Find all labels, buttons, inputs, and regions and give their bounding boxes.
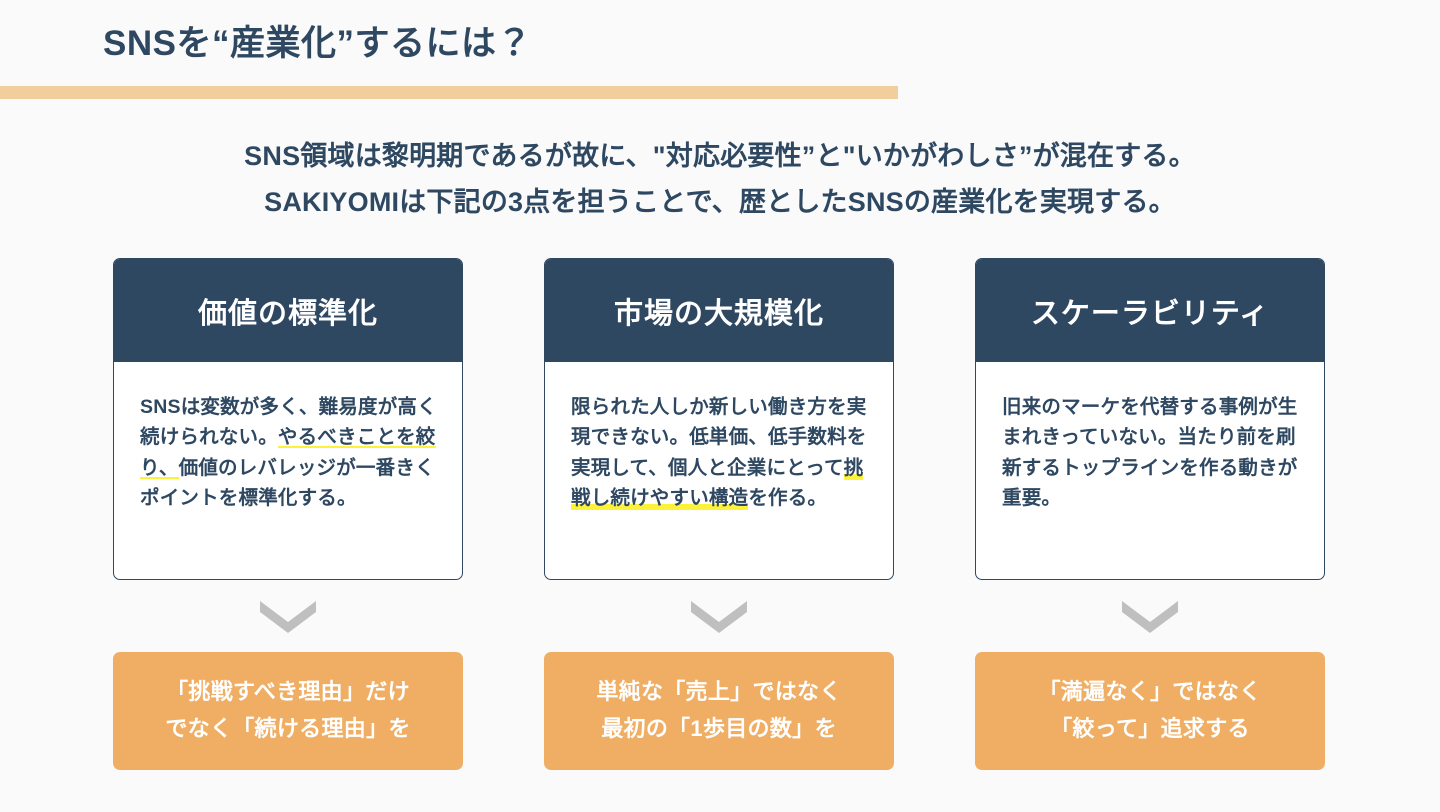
title-block: SNSを“産業化”するには？ <box>0 22 1440 66</box>
card-body: SNSは変数が多く、難易度が高く続けられない。やるべきことを絞り、価値のレバレッ… <box>114 362 462 579</box>
page-title: SNSを“産業化”するには？ <box>0 22 1440 66</box>
callout-line-2: 「絞って」追求する <box>1050 711 1250 748</box>
subtitle: SNS領域は黎明期であるが故に、"対応必要性”と"いかがわしさ”が混在する。 S… <box>0 133 1440 226</box>
column-scalability: スケーラビリティ 旧来のマーケを代替する事例が生まれきっていない。当たり前を刷新… <box>975 258 1325 770</box>
card-header: 市場の大規模化 <box>545 259 893 362</box>
callout-box: 「挑戦すべき理由」だけ でなく「続ける理由」を <box>113 652 463 770</box>
card-header: スケーラビリティ <box>976 259 1324 362</box>
column-value-standardization: 価値の標準化 SNSは変数が多く、難易度が高く続けられない。やるべきことを絞り、… <box>113 258 463 770</box>
subtitle-line-1: SNS領域は黎明期であるが故に、"対応必要性”と"いかがわしさ”が混在する。 <box>0 133 1440 179</box>
card: 価値の標準化 SNSは変数が多く、難易度が高く続けられない。やるべきことを絞り、… <box>113 258 463 580</box>
chevron-down-icon <box>1122 601 1178 633</box>
slide-root: SNSを“産業化”するには？ SNS領域は黎明期であるが故に、"対応必要性”と"… <box>0 0 1440 812</box>
callout-box: 「満遍なく」ではなく 「絞って」追求する <box>975 652 1325 770</box>
chevron-down-icon <box>691 601 747 633</box>
card-body-part1: 旧来のマーケを代替する事例が生まれきっていない。当たり前を刷新するトップラインを… <box>1002 396 1298 509</box>
callout-line-1: 「挑戦すべき理由」だけ <box>166 674 410 711</box>
title-accent-bar <box>0 86 898 99</box>
card-body: 旧来のマーケを代替する事例が生まれきっていない。当たり前を刷新するトップラインを… <box>976 362 1324 579</box>
card-body-text: SNSは変数が多く、難易度が高く続けられない。やるべきことを絞り、価値のレバレッ… <box>140 392 440 514</box>
card: 市場の大規模化 限られた人しか新しい働き方を実現できない。低単価、低手数料を実現… <box>544 258 894 580</box>
callout-line-2: でなく「続ける理由」を <box>165 711 410 748</box>
subtitle-line-2: SAKIYOMIは下記の3点を担うことで、歴としたSNSの産業化を実現する。 <box>0 179 1440 225</box>
callout-line-1: 「満遍なく」ではなく <box>1038 674 1261 711</box>
card-body-part1: 限られた人しか新しい働き方を実現できない。低単価、低手数料を実現して、個人と企業… <box>571 396 867 479</box>
column-market-scaling: 市場の大規模化 限られた人しか新しい働き方を実現できない。低単価、低手数料を実現… <box>544 258 894 770</box>
columns-container: 価値の標準化 SNSは変数が多く、難易度が高く続けられない。やるべきことを絞り、… <box>113 258 1325 770</box>
card: スケーラビリティ 旧来のマーケを代替する事例が生まれきっていない。当たり前を刷新… <box>975 258 1325 580</box>
callout-line-2: 最初の「1歩目の数」を <box>601 711 837 748</box>
card-header: 価値の標準化 <box>114 259 462 362</box>
callout-line-1: 単純な「売上」ではなく <box>596 674 841 711</box>
card-body: 限られた人しか新しい働き方を実現できない。低単価、低手数料を実現して、個人と企業… <box>545 362 893 579</box>
card-body-part2: を作る。 <box>748 487 827 509</box>
card-body-text: 旧来のマーケを代替する事例が生まれきっていない。当たり前を刷新するトップラインを… <box>1002 392 1302 514</box>
card-body-text: 限られた人しか新しい働き方を実現できない。低単価、低手数料を実現して、個人と企業… <box>571 392 871 514</box>
chevron-down-icon <box>260 601 316 633</box>
card-body-part2: 価値のレバレッジが一番きくポイントを標準化する。 <box>140 457 435 509</box>
callout-box: 単純な「売上」ではなく 最初の「1歩目の数」を <box>544 652 894 770</box>
